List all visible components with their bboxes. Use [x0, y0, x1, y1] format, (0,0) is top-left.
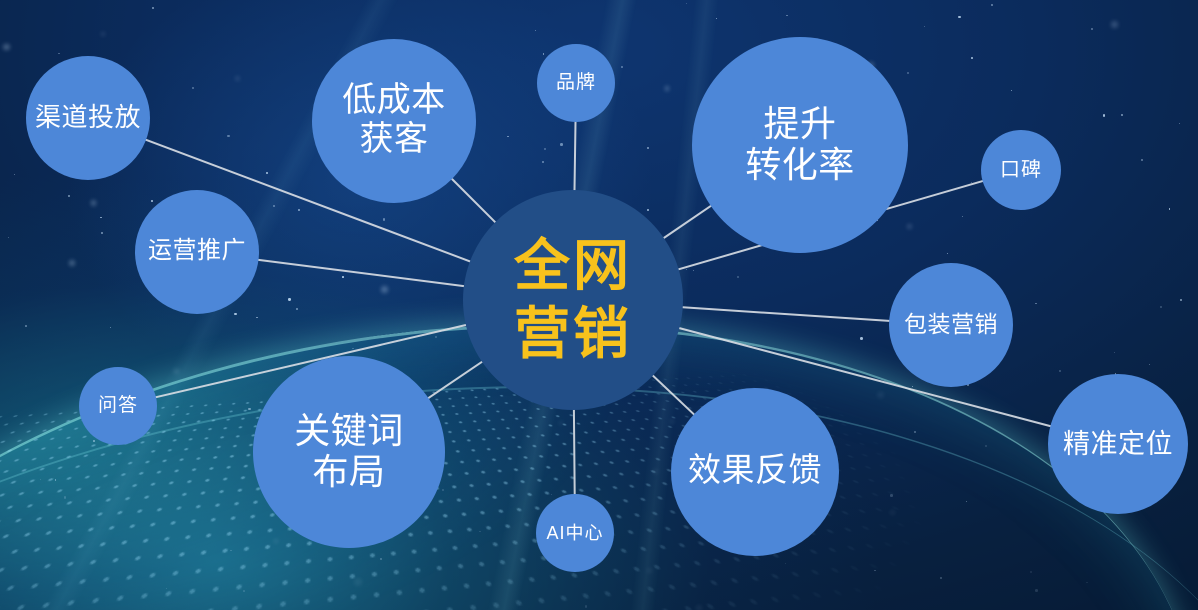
node-label-koubei: 口碑: [996, 159, 1046, 182]
node-guanjianci[interactable]: 关键词 布局: [253, 356, 445, 548]
node-label-wenda: 问答: [94, 395, 142, 417]
node-label-xiaoguo: 效果反馈: [684, 453, 826, 491]
link-guanjianci-to-center: [428, 362, 482, 398]
node-label-yunying: 运营推广: [144, 238, 250, 265]
link-ai-zhongxin-to-center: [574, 410, 575, 494]
node-label-dichengben: 低成本 获客: [338, 82, 450, 160]
node-koubei[interactable]: 口碑: [981, 130, 1061, 210]
node-label-qudao-toufang: 渠道投放: [31, 103, 145, 133]
node-label-pinpai: 品牌: [552, 72, 600, 94]
node-label-baozhuang: 包装营销: [900, 312, 1002, 338]
node-wenda[interactable]: 问答: [79, 367, 157, 445]
marketing-mindmap-canvas: 渠道投放低成本 获客品牌提升 转化率口碑运营推广包装营销问答关键词 布局精准定位…: [0, 0, 1198, 610]
link-xiaoguo-to-center: [653, 376, 694, 415]
link-dichengben-to-center: [452, 179, 495, 222]
node-label-jingzhun: 精准定位: [1059, 429, 1177, 460]
node-qudao-toufang[interactable]: 渠道投放: [26, 56, 150, 180]
node-ai-zhongxin[interactable]: AI中心: [536, 494, 614, 572]
node-label-center: 全网 营销: [510, 232, 636, 369]
node-baozhuang[interactable]: 包装营销: [889, 263, 1013, 387]
node-pinpai[interactable]: 品牌: [537, 44, 615, 122]
link-yunying-to-center: [259, 260, 464, 286]
node-tisheng[interactable]: 提升 转化率: [692, 37, 908, 253]
link-tisheng-to-center: [664, 206, 711, 238]
node-jingzhun[interactable]: 精准定位: [1048, 374, 1188, 514]
node-label-guanjianci: 关键词 布局: [290, 411, 408, 493]
node-xiaoguo[interactable]: 效果反馈: [671, 388, 839, 556]
node-center-quanwang-yingxiao[interactable]: 全网 营销: [463, 190, 683, 410]
node-label-tisheng: 提升 转化率: [741, 104, 859, 186]
node-yunying[interactable]: 运营推广: [135, 190, 259, 314]
link-baozhuang-to-center: [683, 307, 889, 321]
link-pinpai-to-center: [575, 122, 576, 190]
node-dichengben[interactable]: 低成本 获客: [312, 39, 476, 203]
node-label-ai-zhongxin: AI中心: [542, 523, 607, 544]
